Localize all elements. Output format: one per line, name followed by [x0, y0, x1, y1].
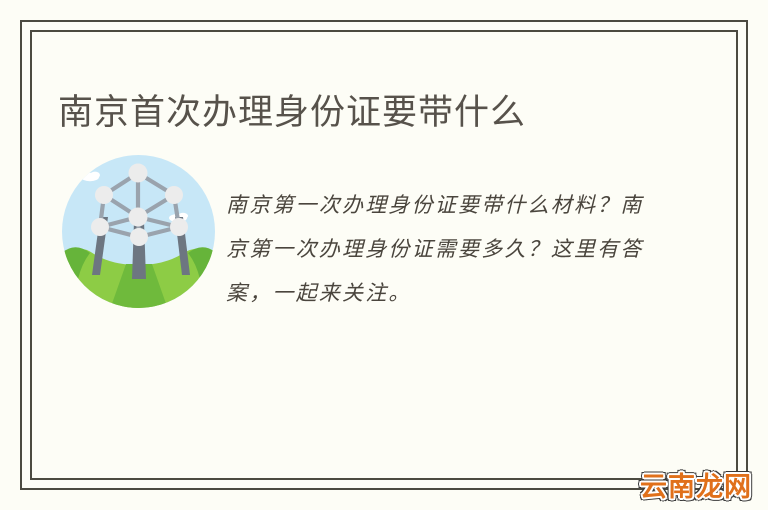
- atomium-landmark-illustration: [62, 155, 215, 308]
- page-title: 南京首次办理身份证要带什么: [58, 91, 526, 135]
- site-watermark: 云南龙网: [640, 465, 752, 504]
- card-content: 南京首次办理身份证要带什么: [32, 32, 736, 478]
- article-card-page: 南京首次办理身份证要带什么: [0, 0, 768, 510]
- article-summary-text: 南京第一次办理身份证要带什么材料？南京第一次办理身份证需要多久？这里有答案，一起…: [226, 183, 646, 315]
